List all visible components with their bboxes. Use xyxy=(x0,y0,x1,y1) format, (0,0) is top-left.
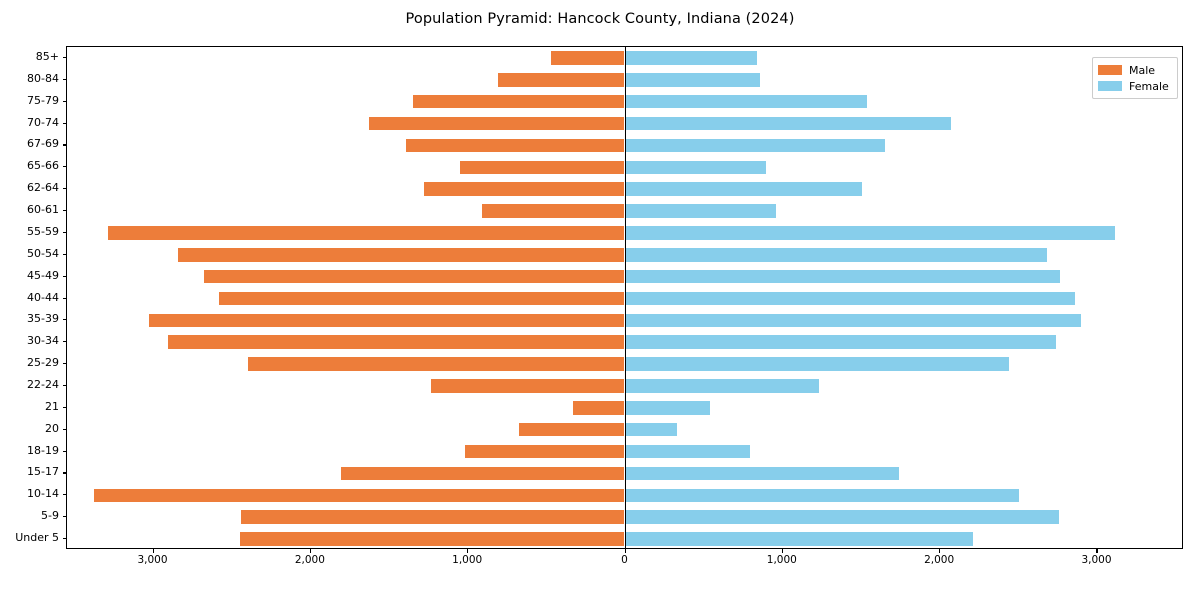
bar-female xyxy=(625,379,820,393)
y-axis-tick-label: 67-69 xyxy=(0,137,59,150)
bar-male xyxy=(178,248,625,262)
bar-male xyxy=(94,489,624,503)
bar-female xyxy=(625,182,863,196)
y-axis-tick-label: 55-59 xyxy=(0,225,59,238)
bar-male xyxy=(168,335,624,349)
bar-male xyxy=(498,73,624,87)
y-axis-tick-label: Under 5 xyxy=(0,531,59,544)
bar-female xyxy=(625,335,1057,349)
bar-female xyxy=(625,248,1047,262)
bar-male xyxy=(431,379,625,393)
bar-female xyxy=(625,510,1060,524)
y-axis-tick-label: 35-39 xyxy=(0,312,59,325)
legend-color-swatch xyxy=(1098,81,1122,91)
bar-female xyxy=(625,467,899,481)
x-axis-tick-mark xyxy=(1096,549,1097,553)
zero-axis-line xyxy=(625,47,626,548)
chart-figure: Population Pyramid: Hancock County, Indi… xyxy=(0,0,1200,600)
y-axis-tick-label: 85+ xyxy=(0,50,59,63)
bar-male xyxy=(573,401,624,415)
bar-male xyxy=(204,270,625,284)
x-axis-tick-mark xyxy=(782,549,783,553)
bar-male xyxy=(465,445,624,459)
x-axis-tick-label: 1,000 xyxy=(767,554,797,566)
x-axis-tick-mark xyxy=(625,549,626,553)
bar-male xyxy=(241,510,624,524)
bar-female xyxy=(625,357,1010,371)
bar-male xyxy=(424,182,624,196)
y-axis-tick-label: 60-61 xyxy=(0,203,59,216)
bar-female xyxy=(625,139,886,153)
bar-female xyxy=(625,445,751,459)
bar-male xyxy=(519,423,625,437)
bar-male xyxy=(551,51,624,65)
chart-title: Population Pyramid: Hancock County, Indi… xyxy=(0,11,1200,27)
y-axis-tick-label: 20 xyxy=(0,422,59,435)
x-axis-tick-label: 2,000 xyxy=(295,554,325,566)
bar-male xyxy=(369,117,625,131)
y-axis-tick-label: 62-64 xyxy=(0,181,59,194)
bar-male xyxy=(413,95,624,109)
x-axis-tick-label: 1,000 xyxy=(452,554,482,566)
bar-female xyxy=(625,95,868,109)
bar-male xyxy=(460,161,624,175)
y-axis-tick-label: 10-14 xyxy=(0,487,59,500)
bar-male xyxy=(482,204,625,218)
legend-label: Female xyxy=(1129,80,1169,93)
bar-male xyxy=(149,314,625,328)
legend-entry: Female xyxy=(1098,78,1172,94)
x-axis-tick-mark xyxy=(467,549,468,553)
y-axis-tick-label: 5-9 xyxy=(0,509,59,522)
y-axis-tick-label: 50-54 xyxy=(0,247,59,260)
x-axis-tick-label: 3,000 xyxy=(1081,554,1111,566)
bar-female xyxy=(625,292,1076,306)
bar-female xyxy=(625,532,973,546)
chart-legend: MaleFemale xyxy=(1092,57,1178,99)
bar-female xyxy=(625,401,711,415)
x-axis-tick-label: 3,000 xyxy=(137,554,167,566)
bar-female xyxy=(625,489,1020,503)
bar-male xyxy=(108,226,625,240)
x-axis-tick-mark xyxy=(939,549,940,553)
y-axis-tick-label: 18-19 xyxy=(0,444,59,457)
y-axis-tick-label: 22-24 xyxy=(0,378,59,391)
bar-female xyxy=(625,314,1081,328)
bar-female xyxy=(625,117,952,131)
bar-female xyxy=(625,51,758,65)
plot-area xyxy=(66,46,1183,549)
bar-male xyxy=(248,357,624,371)
legend-label: Male xyxy=(1129,64,1155,77)
legend-color-swatch xyxy=(1098,65,1122,75)
bar-male xyxy=(240,532,625,546)
y-axis-tick-label: 15-17 xyxy=(0,465,59,478)
y-axis-tick-label: 21 xyxy=(0,400,59,413)
bar-female xyxy=(625,226,1116,240)
x-axis-tick-label: 2,000 xyxy=(924,554,954,566)
bar-female xyxy=(625,423,678,437)
x-axis-tick-label: 0 xyxy=(621,554,628,566)
bar-male xyxy=(406,139,624,153)
y-axis-tick-label: 30-34 xyxy=(0,334,59,347)
y-axis-tick-label: 75-79 xyxy=(0,94,59,107)
y-axis-tick-label: 40-44 xyxy=(0,291,59,304)
bar-male xyxy=(219,292,625,306)
y-axis-tick-label: 45-49 xyxy=(0,269,59,282)
y-axis-tick-label: 25-29 xyxy=(0,356,59,369)
bar-female xyxy=(625,270,1061,284)
x-axis-tick-mark xyxy=(153,549,154,553)
y-axis-tick-label: 70-74 xyxy=(0,116,59,129)
bar-male xyxy=(341,467,624,481)
bar-female xyxy=(625,73,761,87)
bar-female xyxy=(625,204,777,218)
y-axis-tick-label: 65-66 xyxy=(0,159,59,172)
legend-entry: Male xyxy=(1098,62,1172,78)
x-axis-tick-mark xyxy=(310,549,311,553)
bar-female xyxy=(625,161,766,175)
y-axis-tick-label: 80-84 xyxy=(0,72,59,85)
